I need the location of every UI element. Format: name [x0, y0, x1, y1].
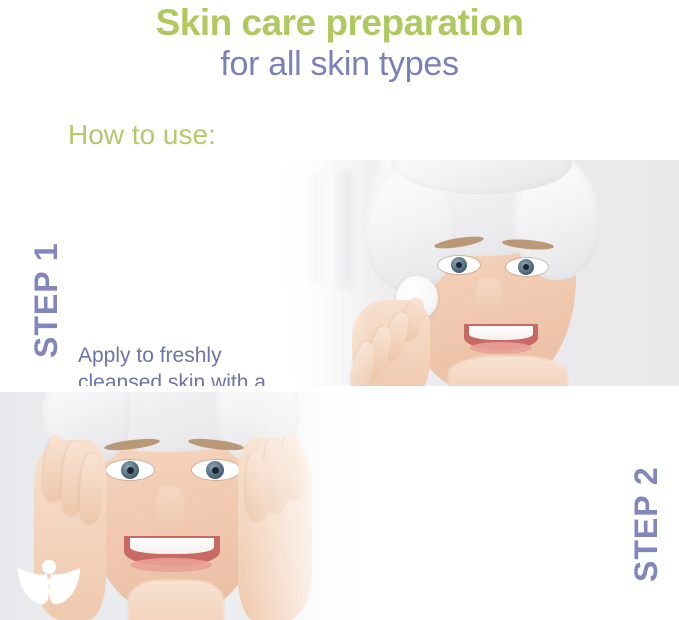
- step-2-panel: Allow the product to dry without the nee…: [0, 392, 679, 620]
- butterfly-leaf-icon: [14, 554, 84, 612]
- step-1-text: Apply to freshly cleansed skin with a co…: [78, 342, 303, 386]
- step-1-label: STEP 1: [28, 242, 65, 358]
- how-to-use-heading: How to use:: [68, 118, 216, 152]
- page-title-line1: Skin care preparation: [0, 2, 679, 44]
- page-title-line2: for all skin types: [0, 44, 679, 84]
- step-1-photo-content: [252, 160, 679, 386]
- header: Skin care preparation for all skin types…: [0, 0, 679, 160]
- step-2-label: STEP 2: [628, 466, 665, 582]
- step-1-panel: Apply to freshly cleansed skin with a co…: [0, 160, 679, 386]
- infographic-page: Skin care preparation for all skin types…: [0, 0, 679, 620]
- step-1-photo: [252, 160, 679, 386]
- panel-divider: [0, 386, 679, 392]
- brand-logo: [14, 554, 84, 612]
